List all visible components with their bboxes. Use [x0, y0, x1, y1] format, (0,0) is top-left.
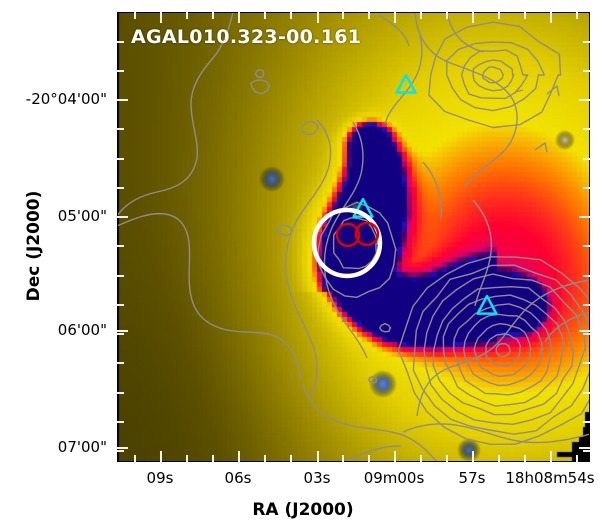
y-major-tick	[117, 99, 128, 101]
y-minor-tick	[117, 245, 124, 247]
y-major-tick	[117, 216, 128, 218]
y-minor-tick	[583, 275, 590, 277]
contour-north-skirt-2	[447, 12, 483, 52]
x-minor-tick	[212, 455, 214, 462]
cyan-triangle-marker	[478, 296, 497, 314]
x-major-tick	[472, 451, 474, 462]
y-major-tick-right	[579, 216, 590, 218]
x-tick-label: 18h08m54s	[490, 469, 606, 487]
contour-central-outer	[286, 120, 331, 396]
x-minor-tick	[524, 12, 526, 19]
y-minor-tick	[583, 450, 590, 452]
y-minor-tick	[583, 128, 590, 130]
contour-fragment	[535, 143, 547, 152]
y-minor-tick	[583, 362, 590, 364]
contour-ring-southeast	[496, 344, 510, 357]
x-minor-tick	[342, 455, 344, 462]
y-minor-tick	[117, 362, 124, 364]
contour-north-skirt	[415, 12, 517, 188]
x-major-tick	[394, 12, 396, 23]
x-major-tick	[238, 451, 240, 462]
image-panel[interactable]: AGAL010.323-00.161	[117, 12, 590, 462]
contour-south-boundary	[403, 424, 590, 443]
y-minor-tick	[117, 421, 124, 423]
x-major-tick	[472, 12, 474, 23]
contour-ring-southeast	[474, 324, 531, 377]
x-minor-tick	[342, 12, 344, 19]
x-minor-tick	[446, 12, 448, 19]
contour-islet	[251, 80, 270, 94]
contour-islet	[256, 70, 264, 78]
x-minor-tick	[498, 455, 500, 462]
x-major-tick	[238, 12, 240, 23]
contour-islet	[380, 324, 391, 332]
x-major-tick	[160, 12, 162, 23]
x-minor-tick	[576, 455, 578, 462]
contour-ring-southeast	[424, 274, 585, 424]
x-minor-tick	[264, 455, 266, 462]
y-minor-tick	[583, 245, 590, 247]
x-minor-tick	[290, 12, 292, 19]
y-minor-tick	[117, 158, 124, 160]
x-major-tick	[317, 12, 319, 23]
y-major-tick	[117, 447, 128, 449]
y-minor-tick	[117, 70, 124, 72]
y-minor-tick	[117, 41, 124, 43]
x-major-tick	[317, 451, 319, 462]
contour-fragment	[515, 90, 523, 92]
x-major-tick	[550, 12, 552, 23]
astronomical-figure: AGAL010.323-00.161 RA (J2000) Dec (J2000…	[0, 0, 606, 529]
contour-central-top	[385, 26, 422, 124]
y-minor-tick	[117, 333, 124, 335]
x-minor-tick	[498, 12, 500, 19]
x-major-tick	[160, 451, 162, 462]
contour-ring-southeast	[454, 304, 552, 395]
x-minor-tick	[186, 12, 188, 19]
x-minor-tick	[186, 455, 188, 462]
contour-ring-north	[473, 60, 514, 91]
y-minor-tick	[583, 70, 590, 72]
y-major-tick-right	[579, 330, 590, 332]
y-minor-tick	[583, 421, 590, 423]
y-minor-tick	[117, 450, 124, 452]
y-minor-tick	[583, 392, 590, 394]
y-minor-tick	[583, 333, 590, 335]
contour-ring-southeast	[443, 295, 564, 406]
x-minor-tick	[420, 455, 422, 462]
x-minor-tick	[134, 455, 136, 462]
y-tick-label: 06'00"	[0, 321, 107, 339]
contour-and-marker-overlay	[117, 12, 590, 462]
x-minor-tick	[134, 12, 136, 19]
y-minor-tick	[117, 275, 124, 277]
x-minor-tick	[524, 455, 526, 462]
contour-filament-east-2	[423, 162, 441, 218]
y-minor-tick	[583, 158, 590, 160]
y-major-tick-right	[579, 99, 590, 101]
contour-islet	[369, 377, 377, 384]
x-minor-tick	[212, 12, 214, 19]
y-tick-label: 05'00"	[0, 207, 107, 225]
x-major-tick	[550, 451, 552, 462]
x-axis-title: RA (J2000)	[0, 500, 606, 520]
source-title: AGAL010.323-00.161	[131, 26, 361, 48]
x-minor-tick	[576, 12, 578, 19]
y-minor-tick	[117, 187, 124, 189]
contour-west-boundary	[117, 214, 301, 380]
x-minor-tick	[446, 455, 448, 462]
y-tick-label: -20°04'00"	[0, 90, 107, 108]
x-major-tick	[394, 451, 396, 462]
x-minor-tick	[368, 455, 370, 462]
x-minor-tick	[368, 12, 370, 19]
y-minor-tick	[117, 392, 124, 394]
y-minor-tick	[583, 187, 590, 189]
y-minor-tick	[117, 304, 124, 306]
x-minor-tick	[264, 12, 266, 19]
x-minor-tick	[290, 455, 292, 462]
y-minor-tick	[117, 128, 124, 130]
x-minor-tick	[420, 12, 422, 19]
y-tick-label: 07'00"	[0, 438, 107, 456]
contour-islet	[302, 121, 318, 134]
y-minor-tick	[583, 41, 590, 43]
y-minor-tick	[583, 304, 590, 306]
y-major-tick	[117, 330, 128, 332]
y-major-tick-right	[579, 447, 590, 449]
contour-south-boundary-2	[347, 446, 401, 462]
